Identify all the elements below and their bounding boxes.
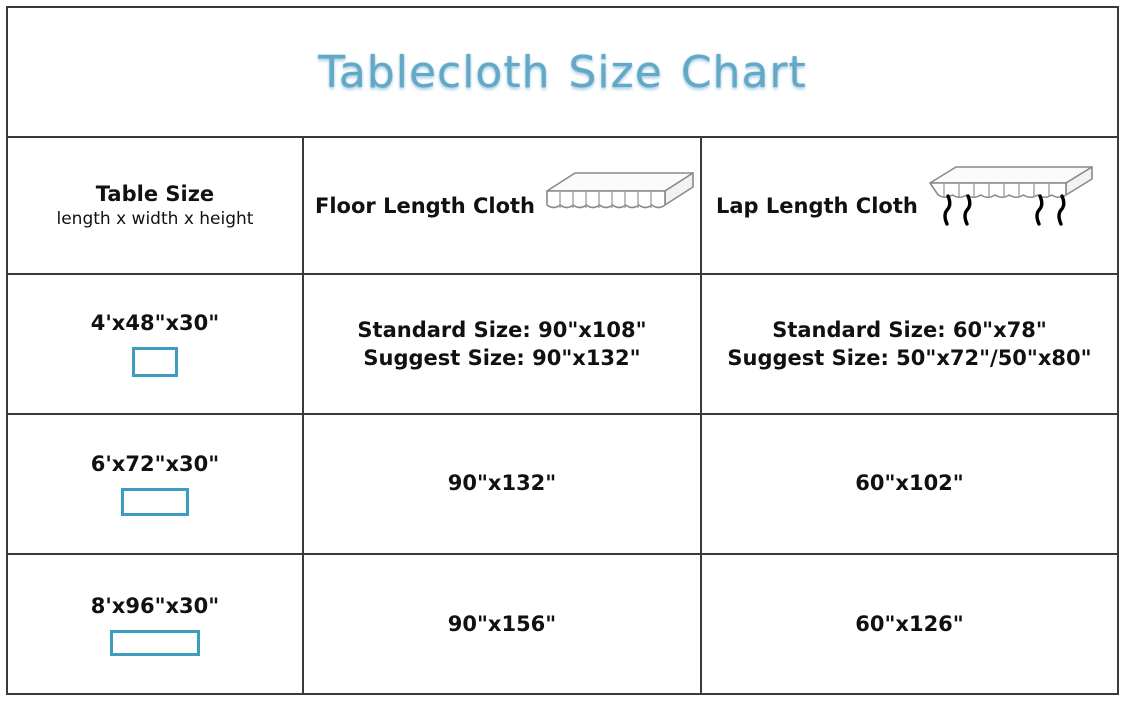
header-table-size-title: Table Size	[57, 181, 254, 207]
lap-length-standard-size: Standard Size: 60"x78"	[727, 316, 1091, 344]
tablecloth-size-chart: TableclothSizeChart Table Size length x …	[6, 6, 1119, 695]
floor-length-suggest-size: Suggest Size: 90"x132"	[357, 344, 646, 372]
table-row: 4'x48"x30" Standard Size: 90"x108" Sugge…	[8, 275, 1117, 415]
cell-lap-length: Standard Size: 60"x78" Suggest Size: 50"…	[702, 275, 1117, 413]
table-row: 6'x72"x30" 90"x132" 60"x102"	[8, 415, 1117, 555]
title-word-2: Size	[569, 47, 663, 98]
lap-length-suggest-size: Suggest Size: 50"x72"/50"x80"	[727, 344, 1091, 372]
table-row: 8'x96"x30" 90"x156" 60"x126"	[8, 555, 1117, 694]
cell-floor-length: 90"x156"	[304, 555, 702, 694]
floor-length-size: 90"x132"	[448, 469, 557, 498]
floor-length-standard-size: Standard Size: 90"x108"	[357, 316, 646, 344]
lap-length-size: 60"x126"	[855, 610, 964, 639]
chart-title-row: TableclothSizeChart	[8, 8, 1117, 138]
header-table-size-subtitle: length x width x height	[57, 209, 254, 230]
table-size-value: 6'x72"x30"	[91, 452, 219, 476]
table-header-row: Table Size length x width x height Floor…	[8, 138, 1117, 275]
floor-length-tablecloth-icon	[539, 165, 699, 247]
lap-length-size: 60"x102"	[855, 469, 964, 498]
header-floor-length-label: Floor Length Cloth	[315, 194, 535, 218]
table-proportion-swatch	[121, 488, 189, 516]
cell-table-size: 6'x72"x30"	[8, 415, 304, 553]
title-word-1: Tablecloth	[318, 47, 550, 98]
header-cell-table-size: Table Size length x width x height	[8, 138, 304, 273]
cell-lap-length: 60"x102"	[702, 415, 1117, 553]
cell-table-size: 4'x48"x30"	[8, 275, 304, 413]
header-lap-length-label: Lap Length Cloth	[716, 194, 918, 218]
table-size-value: 4'x48"x30"	[91, 311, 219, 335]
header-cell-floor-length: Floor Length Cloth	[304, 138, 702, 273]
title-word-3: Chart	[681, 47, 807, 98]
cell-lap-length: 60"x126"	[702, 555, 1117, 694]
table-proportion-swatch	[110, 630, 200, 656]
lap-length-tablecloth-icon	[922, 159, 1102, 253]
table-proportion-swatch	[132, 347, 178, 377]
table-size-value: 8'x96"x30"	[91, 594, 219, 618]
floor-length-size: 90"x156"	[448, 610, 557, 639]
cell-floor-length: 90"x132"	[304, 415, 702, 553]
cell-floor-length: Standard Size: 90"x108" Suggest Size: 90…	[304, 275, 702, 413]
cell-table-size: 8'x96"x30"	[8, 555, 304, 694]
header-cell-lap-length: Lap Length Cloth	[702, 138, 1117, 273]
page-title: TableclothSizeChart	[309, 47, 816, 98]
